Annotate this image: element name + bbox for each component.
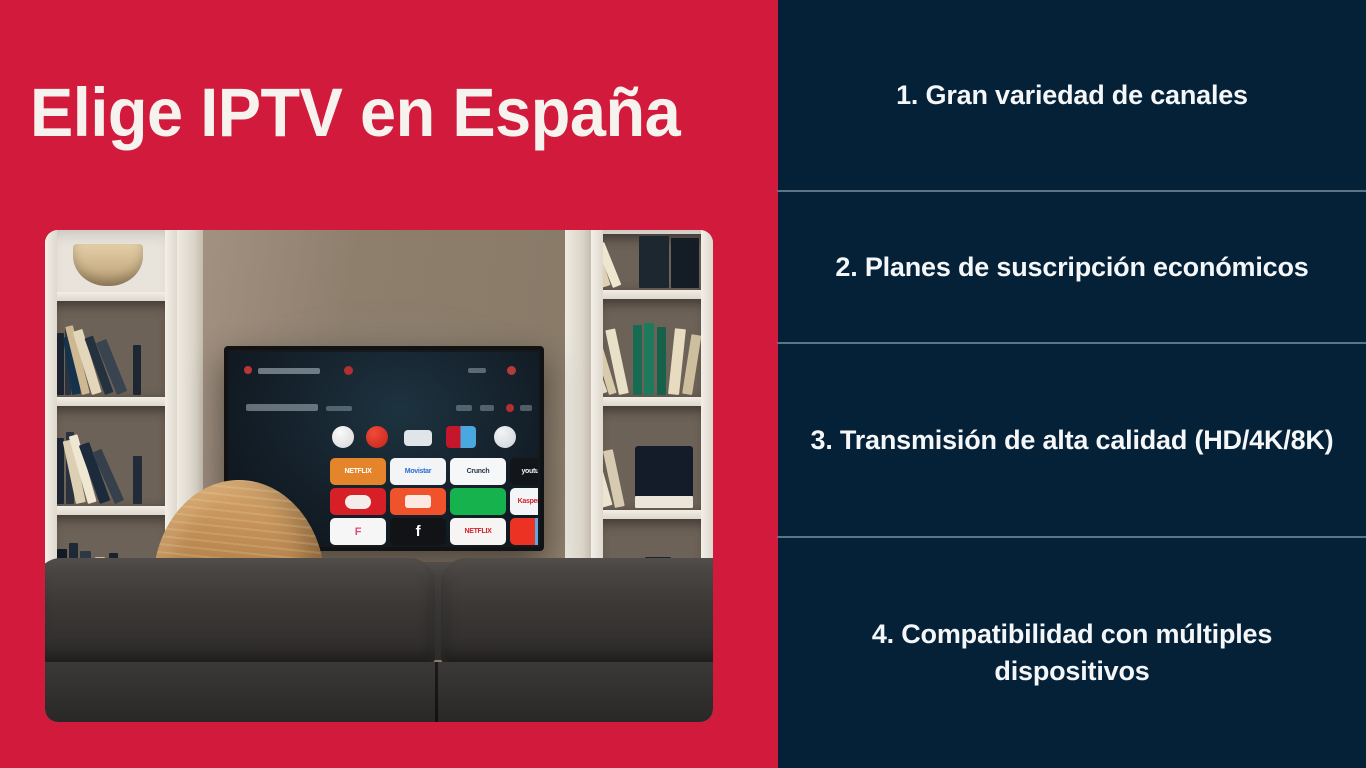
shelf-divider xyxy=(45,292,177,301)
left-red-panel: Elige IPTV en España xyxy=(0,0,778,768)
sofa-cushion xyxy=(441,558,713,664)
tv-app-tile xyxy=(450,488,506,515)
sofa-seam xyxy=(435,662,438,722)
decor-bowl xyxy=(73,244,143,286)
shelf-cell xyxy=(51,301,171,397)
tv-app-tile: Movistar xyxy=(390,458,446,485)
tv-app-tile: youtube xyxy=(510,458,538,485)
feature-item-2: 2. Planes de suscripción económicos xyxy=(778,191,1366,343)
tv-app-circles xyxy=(244,426,528,450)
tv-app-tile: Crunch xyxy=(450,458,506,485)
feature-list: 1. Gran variedad de canales 2. Planes de… xyxy=(778,0,1366,768)
right-navy-panel: 1. Gran variedad de canales 2. Planes de… xyxy=(778,0,1366,768)
tv-app-tile xyxy=(390,488,446,515)
shelf-cell xyxy=(51,406,171,506)
shelf-divider xyxy=(45,397,177,406)
sofa-seat xyxy=(45,662,713,722)
photo-inner: NETFLIX Movistar Crunch youtube Ka xyxy=(45,230,713,722)
tv-row-label xyxy=(246,404,318,411)
shelf-cell xyxy=(597,299,707,397)
shelf-cell xyxy=(597,406,707,510)
shelf-divider xyxy=(591,290,713,299)
tv-app-tile xyxy=(330,488,386,515)
tv-app-tile: NETFLIX xyxy=(330,458,386,485)
shelf-divider xyxy=(45,506,177,515)
sofa xyxy=(45,540,713,722)
hero-photo: NETFLIX Movistar Crunch youtube Ka xyxy=(45,230,713,722)
sofa-cushion xyxy=(45,558,435,664)
shelf-cell xyxy=(597,234,707,290)
tv-top-bar xyxy=(244,366,524,375)
slide-canvas: Elige IPTV en España xyxy=(0,0,1366,768)
feature-item-3: 3. Transmisión de alta calidad (HD/4K/8K… xyxy=(778,343,1366,537)
feature-item-4: 4. Compatibilidad con múltiples disposit… xyxy=(778,537,1366,768)
shelf-divider xyxy=(591,397,713,406)
feature-item-1: 1. Gran variedad de canales xyxy=(778,0,1366,191)
tv-app-tile: Kaspersky xyxy=(510,488,538,515)
shelf-divider xyxy=(591,510,713,519)
page-title: Elige IPTV en España xyxy=(30,78,707,147)
